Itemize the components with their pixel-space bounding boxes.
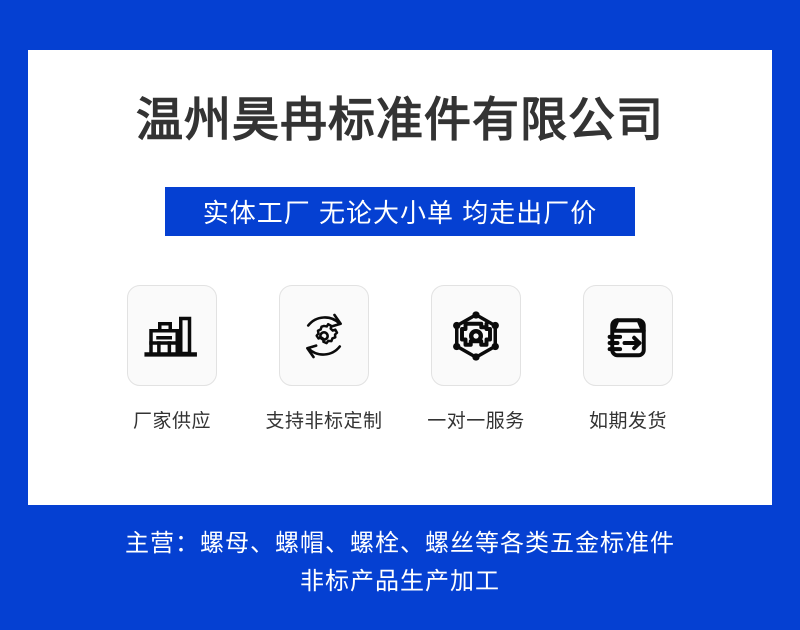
feature-item-custom-nonstandard: 支持非标定制 (279, 285, 369, 433)
feature-label: 厂家供应 (133, 406, 211, 433)
feature-icon-box (583, 285, 673, 386)
footer-secondary-text: 非标产品生产加工 (0, 566, 800, 598)
feature-label: 支持非标定制 (266, 406, 383, 433)
footer: 主营：螺母、螺帽、螺栓、螺丝等各类五金标准件 非标产品生产加工 (0, 528, 800, 599)
package-arrow-icon (600, 308, 656, 364)
footer-main-products: 主营：螺母、螺帽、螺栓、螺丝等各类五金标准件 (0, 528, 800, 560)
gear-refresh-icon (296, 308, 352, 364)
feature-item-on-time-shipping: 如期发货 (583, 285, 673, 433)
feature-icon-box (431, 285, 521, 386)
feature-label: 一对一服务 (427, 406, 525, 433)
slogan-banner: 实体工厂 无论大小单 均走出厂价 (165, 187, 635, 236)
page-title: 温州昊冉标准件有限公司 (28, 94, 772, 146)
slogan-banner-text: 实体工厂 无论大小单 均走出厂价 (203, 193, 597, 230)
feature-label: 如期发货 (589, 406, 667, 433)
hexagon-network-icon (448, 308, 504, 364)
feature-list: 厂家供应 支持非标定制 (28, 285, 772, 433)
feature-item-one-on-one-service: 一对一服务 (431, 285, 521, 433)
promo-banner-page: { "theme": { "brand_blue": "#0540d2", "c… (0, 0, 800, 630)
feature-item-factory-supply: 厂家供应 (127, 285, 217, 433)
factory-icon (144, 308, 200, 364)
main-card: 温州昊冉标准件有限公司 实体工厂 无论大小单 均走出厂价 (28, 50, 772, 505)
feature-icon-box (279, 285, 369, 386)
feature-icon-box (127, 285, 217, 386)
